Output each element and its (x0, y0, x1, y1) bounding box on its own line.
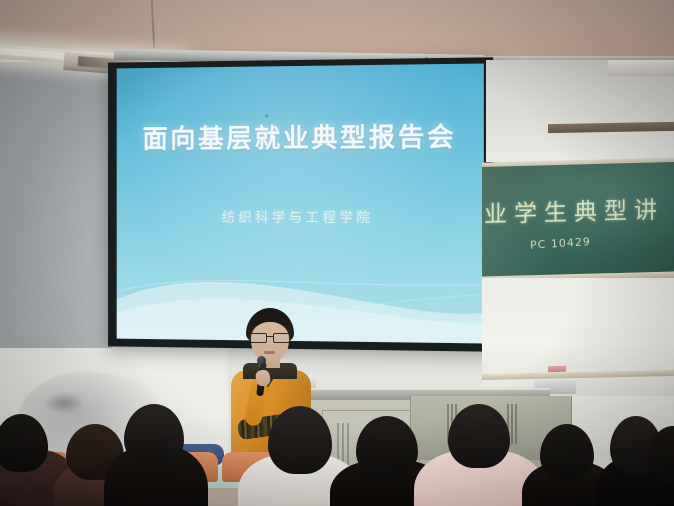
slide-subtitle: 纺织科学与工程学院 (117, 206, 484, 226)
microphone-head (257, 356, 266, 365)
presentation-slide: 面向基层就业典型报告会 纺织科学与工程学院 (117, 63, 484, 343)
audience-head (540, 424, 594, 480)
left-wall-panel (0, 62, 112, 350)
audience-head (124, 404, 184, 466)
glasses-icon (250, 333, 290, 341)
slide-title: 面向基层就业典型报告会 (117, 116, 484, 155)
audience-head (356, 416, 418, 478)
blackboard-chalk-heading: 业学生典型讲 (484, 190, 674, 229)
audience-area (0, 396, 674, 506)
ceiling (0, 0, 674, 60)
blackboard: 业学生典型讲 PC 10429 (482, 162, 674, 277)
audience-head (268, 406, 332, 474)
projection-surface: 面向基层就业典型报告会 纺织科学与工程学院 (117, 63, 484, 343)
classroom-photo-scene: Proudly 面向基层就业典型报告会 纺织科学与工程学院 业学生典 (0, 0, 674, 506)
ceiling-light-panel (608, 60, 674, 76)
speaker-mouth (264, 351, 275, 354)
screen-speck (265, 114, 268, 117)
audience-head (0, 414, 48, 472)
eraser-icon (548, 366, 566, 372)
